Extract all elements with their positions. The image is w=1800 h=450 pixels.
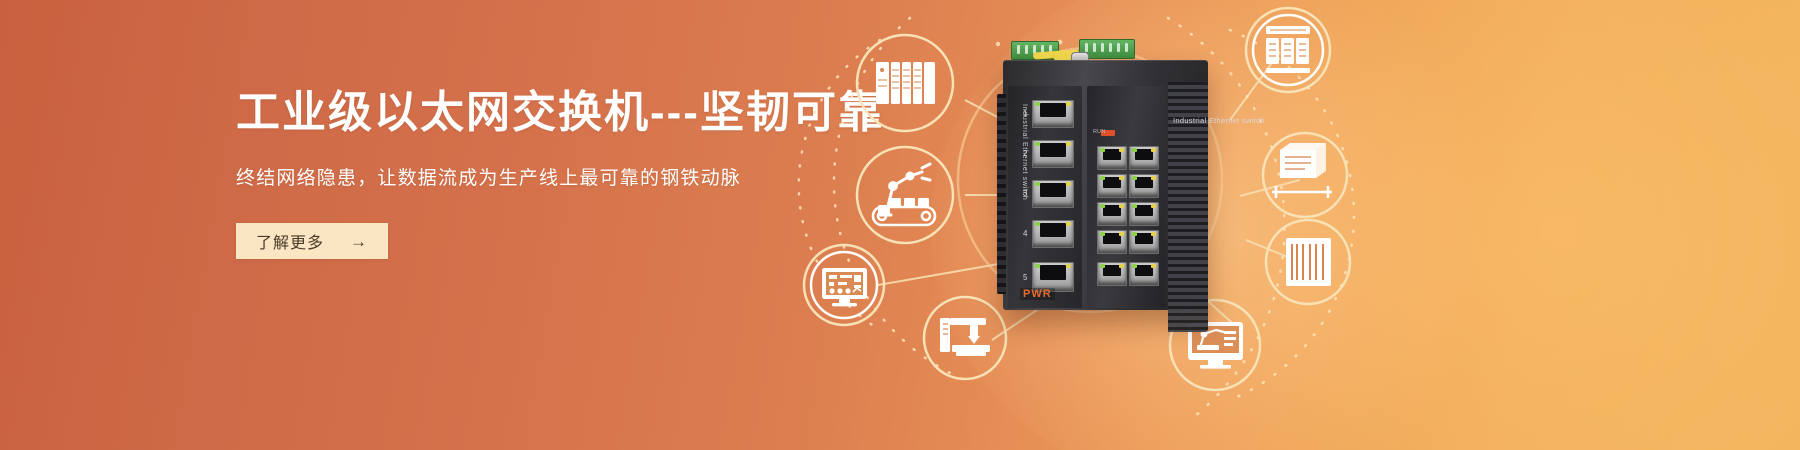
arrow-right-icon: → [350, 233, 368, 250]
port-number-4: 4 [1023, 230, 1027, 238]
power-label: PWR [1020, 288, 1055, 300]
ethernet-port-2 [1032, 140, 1074, 168]
side-vent [997, 94, 1006, 294]
ethernet-port-a7 [1097, 230, 1127, 254]
ethernet-port-a3 [1097, 174, 1127, 198]
server-rack-icon [1246, 8, 1330, 92]
ethernet-port-a10 [1129, 262, 1159, 286]
hero-banner: 工业级以太网交换机---坚韧可靠 终结网络隐患，让数据流成为生产线上最可靠的钢铁… [0, 0, 1800, 450]
port-number-5: 5 [1023, 274, 1027, 282]
ethernet-port-a9 [1097, 262, 1127, 286]
sensor-module-icon [1266, 220, 1350, 304]
ethernet-port-a2 [1129, 146, 1159, 170]
switch-chassis: Industrial Ethernet switch 1 2 3 [1003, 60, 1208, 310]
ethernet-port-3 [1032, 180, 1074, 208]
port-number-2: 2 [1023, 150, 1027, 158]
port-number-1: 1 [1023, 110, 1027, 118]
ethernet-port-a1 [1097, 146, 1127, 170]
ethernet-port-4 [1032, 220, 1074, 248]
switch-module-left: Industrial Ethernet switch 1 2 3 [1008, 86, 1082, 308]
din-rail-icon [1263, 133, 1347, 217]
port-number-3: 3 [1023, 190, 1027, 198]
product-illustration: Industrial Ethernet switch 1 2 3 [760, 0, 1800, 450]
ethernet-port-a5 [1097, 202, 1127, 226]
ethernet-port-1 [1032, 100, 1074, 128]
hmi-monitor-icon [804, 245, 884, 325]
robot-arm-conveyor-icon [857, 147, 953, 243]
learn-more-button[interactable]: 了解更多 → [236, 223, 388, 259]
plc-controller-icon [857, 35, 953, 131]
run-led-label: RUN [1093, 129, 1106, 135]
icon-network-diagram [760, 0, 1800, 450]
brand-label-vertical: Industrial Ethernet switch [1012, 104, 1028, 224]
ethernet-port-a8 [1129, 230, 1159, 254]
learn-more-label: 了解更多 [256, 229, 324, 253]
ethernet-port-a4 [1129, 174, 1159, 198]
ethernet-port-a6 [1129, 202, 1159, 226]
industrial-ethernet-switch: Industrial Ethernet switch 1 2 3 [1003, 38, 1208, 310]
brand-label-horizontal: Industrial Ethernet switch [1173, 116, 1265, 125]
switch-module-right: Industrial Ethernet switch RUN [1087, 86, 1165, 308]
